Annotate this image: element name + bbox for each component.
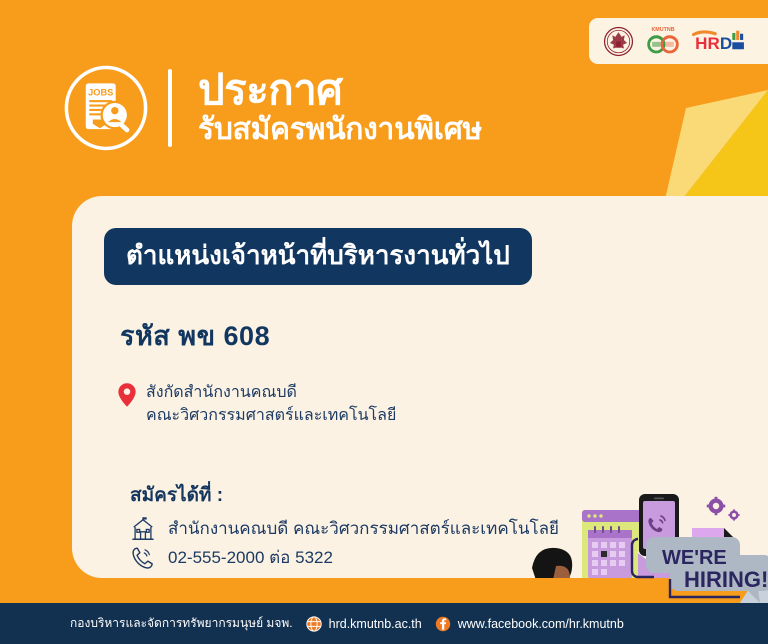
building-icon — [130, 516, 156, 542]
affiliation-block: สังกัดสำนักงานคณบดี คณะวิศวกรรมศาสตร์และ… — [118, 382, 396, 427]
svg-text:JOBS: JOBS — [88, 88, 113, 98]
globe-icon — [306, 616, 322, 632]
svg-text:D: D — [720, 34, 732, 53]
apply-office-text: สำนักงานคณบดี คณะวิศวกรรมศาสตร์และเทคโนโ… — [168, 518, 559, 540]
page-subtitle: รับสมัครพนักงานพิเศษ — [198, 113, 482, 148]
footer-facebook-link[interactable]: www.facebook.com/hr.kmutnb — [458, 617, 624, 631]
university-seal-icon — [603, 26, 634, 57]
apply-heading: สมัครได้ที่ : — [130, 480, 559, 510]
facebook-icon — [435, 616, 451, 632]
apply-phone-row: 02-555-2000 ต่อ 5322 — [130, 545, 559, 571]
affiliation-text: สังกัดสำนักงานคณบดี คณะวิศวกรรมศาสตร์และ… — [146, 382, 396, 427]
phone-icon — [130, 545, 156, 571]
job-title-text: ตำแหน่งเจ้าหน้าที่บริหารงานทั่วไป — [126, 239, 510, 272]
apply-office-row: สำนักงานคณบดี คณะวิศวกรรมศาสตร์และเทคโนโ… — [130, 516, 559, 542]
affiliation-line-1: สังกัดสำนักงานคณบดี — [146, 382, 396, 405]
apply-block: สมัครได้ที่ : สำนักงานคณบดี คณะวิศวกรรมศ… — [130, 480, 559, 571]
hrd-logo: H R D — [692, 28, 754, 55]
institution-logo-badge: KMUTNB H R D — [589, 18, 768, 64]
hiring-line-1-text: WE'RE — [662, 547, 727, 569]
footer-website-link[interactable]: hrd.kmutnb.ac.th — [329, 617, 422, 631]
svg-text:R: R — [708, 34, 720, 53]
job-title-banner: ตำแหน่งเจ้าหน้าที่บริหารงานทั่วไป — [104, 228, 532, 285]
poster-footer: กองบริหารและจัดการทรัพยากรมนุษย์ มจพ. hr… — [0, 603, 768, 644]
were-hiring-badge: WE'RE HIRING! — [608, 533, 768, 603]
apply-phone-text: 02-555-2000 ต่อ 5322 — [168, 547, 333, 569]
svg-text:KMUTNB: KMUTNB — [651, 27, 674, 33]
affiliation-line-2: คณะวิศวกรรมศาสตร์และเทคโนโลยี — [146, 405, 396, 428]
header-divider — [168, 69, 172, 147]
location-pin-icon — [118, 383, 136, 407]
hiring-line-2-text: HIRING! — [684, 567, 768, 592]
job-code: รหัส พข 608 — [120, 314, 270, 357]
footer-facebook-item[interactable]: www.facebook.com/hr.kmutnb — [435, 616, 624, 632]
svg-text:H: H — [695, 34, 707, 53]
poster-header: JOBS ประกาศ รับสมัครพนักงานพิเศษ — [62, 64, 482, 152]
announcement-card: ตำแหน่งเจ้าหน้าที่บริหารงานทั่วไป รหัส พ… — [72, 196, 768, 578]
page-title: ประกาศ — [198, 69, 482, 111]
footer-website-item[interactable]: hrd.kmutnb.ac.th — [306, 616, 422, 632]
anniversary-66-logo: KMUTNB — [643, 24, 683, 58]
jobs-search-icon: JOBS — [62, 64, 150, 152]
job-announcement-poster: KMUTNB H R D JOBS — [0, 0, 768, 644]
footer-department: กองบริหารและจัดการทรัพยากรมนุษย์ มจพ. — [70, 614, 293, 633]
